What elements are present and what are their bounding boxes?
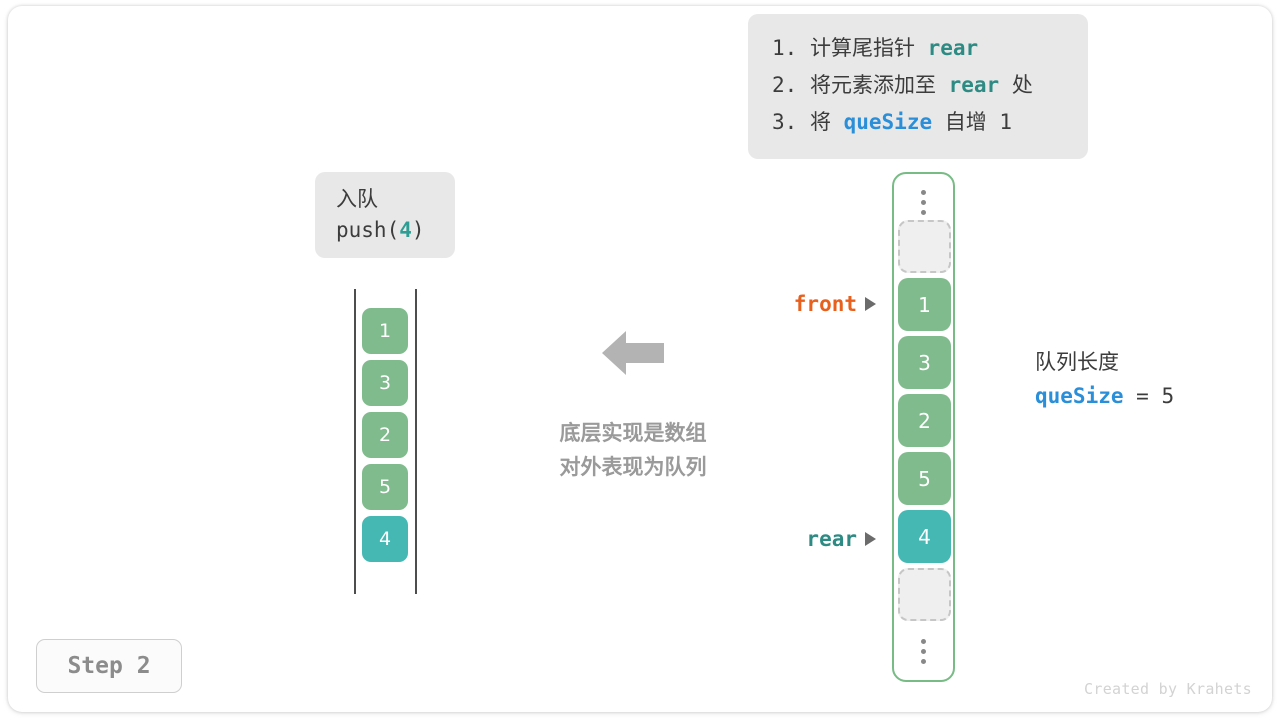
credit-text: Created by Krahets (1084, 680, 1252, 698)
operation-call: push(4) (336, 214, 455, 246)
rear-pointer-label: rear (806, 527, 857, 551)
instruction-line-1: 1. 计算尾指针 rear (772, 30, 1068, 67)
rear-pointer-arrow-icon (865, 532, 876, 546)
left-queue: 13254 (348, 289, 424, 594)
vertical-ellipsis-icon-bottom (894, 639, 953, 664)
instruction-1-code: rear (928, 36, 979, 60)
vertical-ellipsis-icon-top (894, 190, 953, 215)
instruction-3-post: 自增 1 (932, 110, 1012, 134)
instruction-3-index: 3. (772, 110, 797, 134)
queue-size-info: 队列长度 queSize = 5 (1035, 346, 1174, 413)
array-cell-empty (898, 220, 951, 273)
operation-title: 入队 (336, 184, 455, 214)
diagram-canvas: 1. 计算尾指针 rear 2. 将元素添加至 rear 处 3. 将 queS… (8, 6, 1272, 712)
queue-size-expression: queSize = 5 (1035, 379, 1174, 413)
queue-size-equals: = (1124, 384, 1162, 408)
center-caption-line-1: 底层实现是数组 (513, 416, 753, 450)
operation-call-prefix: push( (336, 218, 399, 242)
array-frame: 13254 (892, 172, 955, 682)
queue-size-var: queSize (1035, 384, 1124, 408)
rear-pointer: rear (708, 527, 876, 551)
array-cell: 2 (898, 394, 951, 447)
instruction-line-2: 2. 将元素添加至 rear 处 (772, 67, 1068, 104)
center-caption-line-2: 对外表现为队列 (513, 450, 753, 484)
left-queue-cell: 1 (362, 308, 408, 354)
arrow-left-icon (600, 326, 666, 380)
left-queue-cell: 4 (362, 516, 408, 562)
queue-left-rail (354, 289, 356, 594)
array-cell-list: 13254 (898, 220, 951, 626)
instruction-2-post: 处 (999, 73, 1033, 97)
instruction-1-pre: 计算尾指针 (810, 36, 928, 60)
front-pointer: front (708, 292, 876, 316)
instruction-box: 1. 计算尾指针 rear 2. 将元素添加至 rear 处 3. 将 queS… (748, 14, 1088, 159)
array-cell: 3 (898, 336, 951, 389)
instruction-2-pre: 将元素添加至 (810, 73, 949, 97)
left-queue-cell-list: 13254 (362, 308, 408, 568)
operation-call-arg: 4 (399, 218, 412, 242)
operation-call-suffix: ) (412, 218, 425, 242)
array-cell: 5 (898, 452, 951, 505)
instruction-2-code: rear (949, 73, 1000, 97)
instruction-line-3: 3. 将 queSize 自增 1 (772, 104, 1068, 141)
operation-box: 入队 push(4) (315, 172, 455, 258)
array-cell-empty (898, 568, 951, 621)
instruction-2-index: 2. (772, 73, 797, 97)
array-cell: 4 (898, 510, 951, 563)
instruction-1-index: 1. (772, 36, 797, 60)
step-badge: Step 2 (36, 639, 182, 693)
array-cell: 1 (898, 278, 951, 331)
queue-right-rail (415, 289, 417, 594)
instruction-3-code: queSize (844, 110, 933, 134)
left-queue-cell: 3 (362, 360, 408, 406)
left-queue-cell: 2 (362, 412, 408, 458)
center-caption: 底层实现是数组 对外表现为队列 (513, 416, 753, 484)
front-pointer-arrow-icon (865, 297, 876, 311)
queue-size-caption: 队列长度 (1035, 346, 1174, 379)
instruction-3-pre: 将 (810, 110, 844, 134)
queue-size-value: 5 (1161, 384, 1174, 408)
front-pointer-label: front (794, 292, 857, 316)
left-queue-cell: 5 (362, 464, 408, 510)
